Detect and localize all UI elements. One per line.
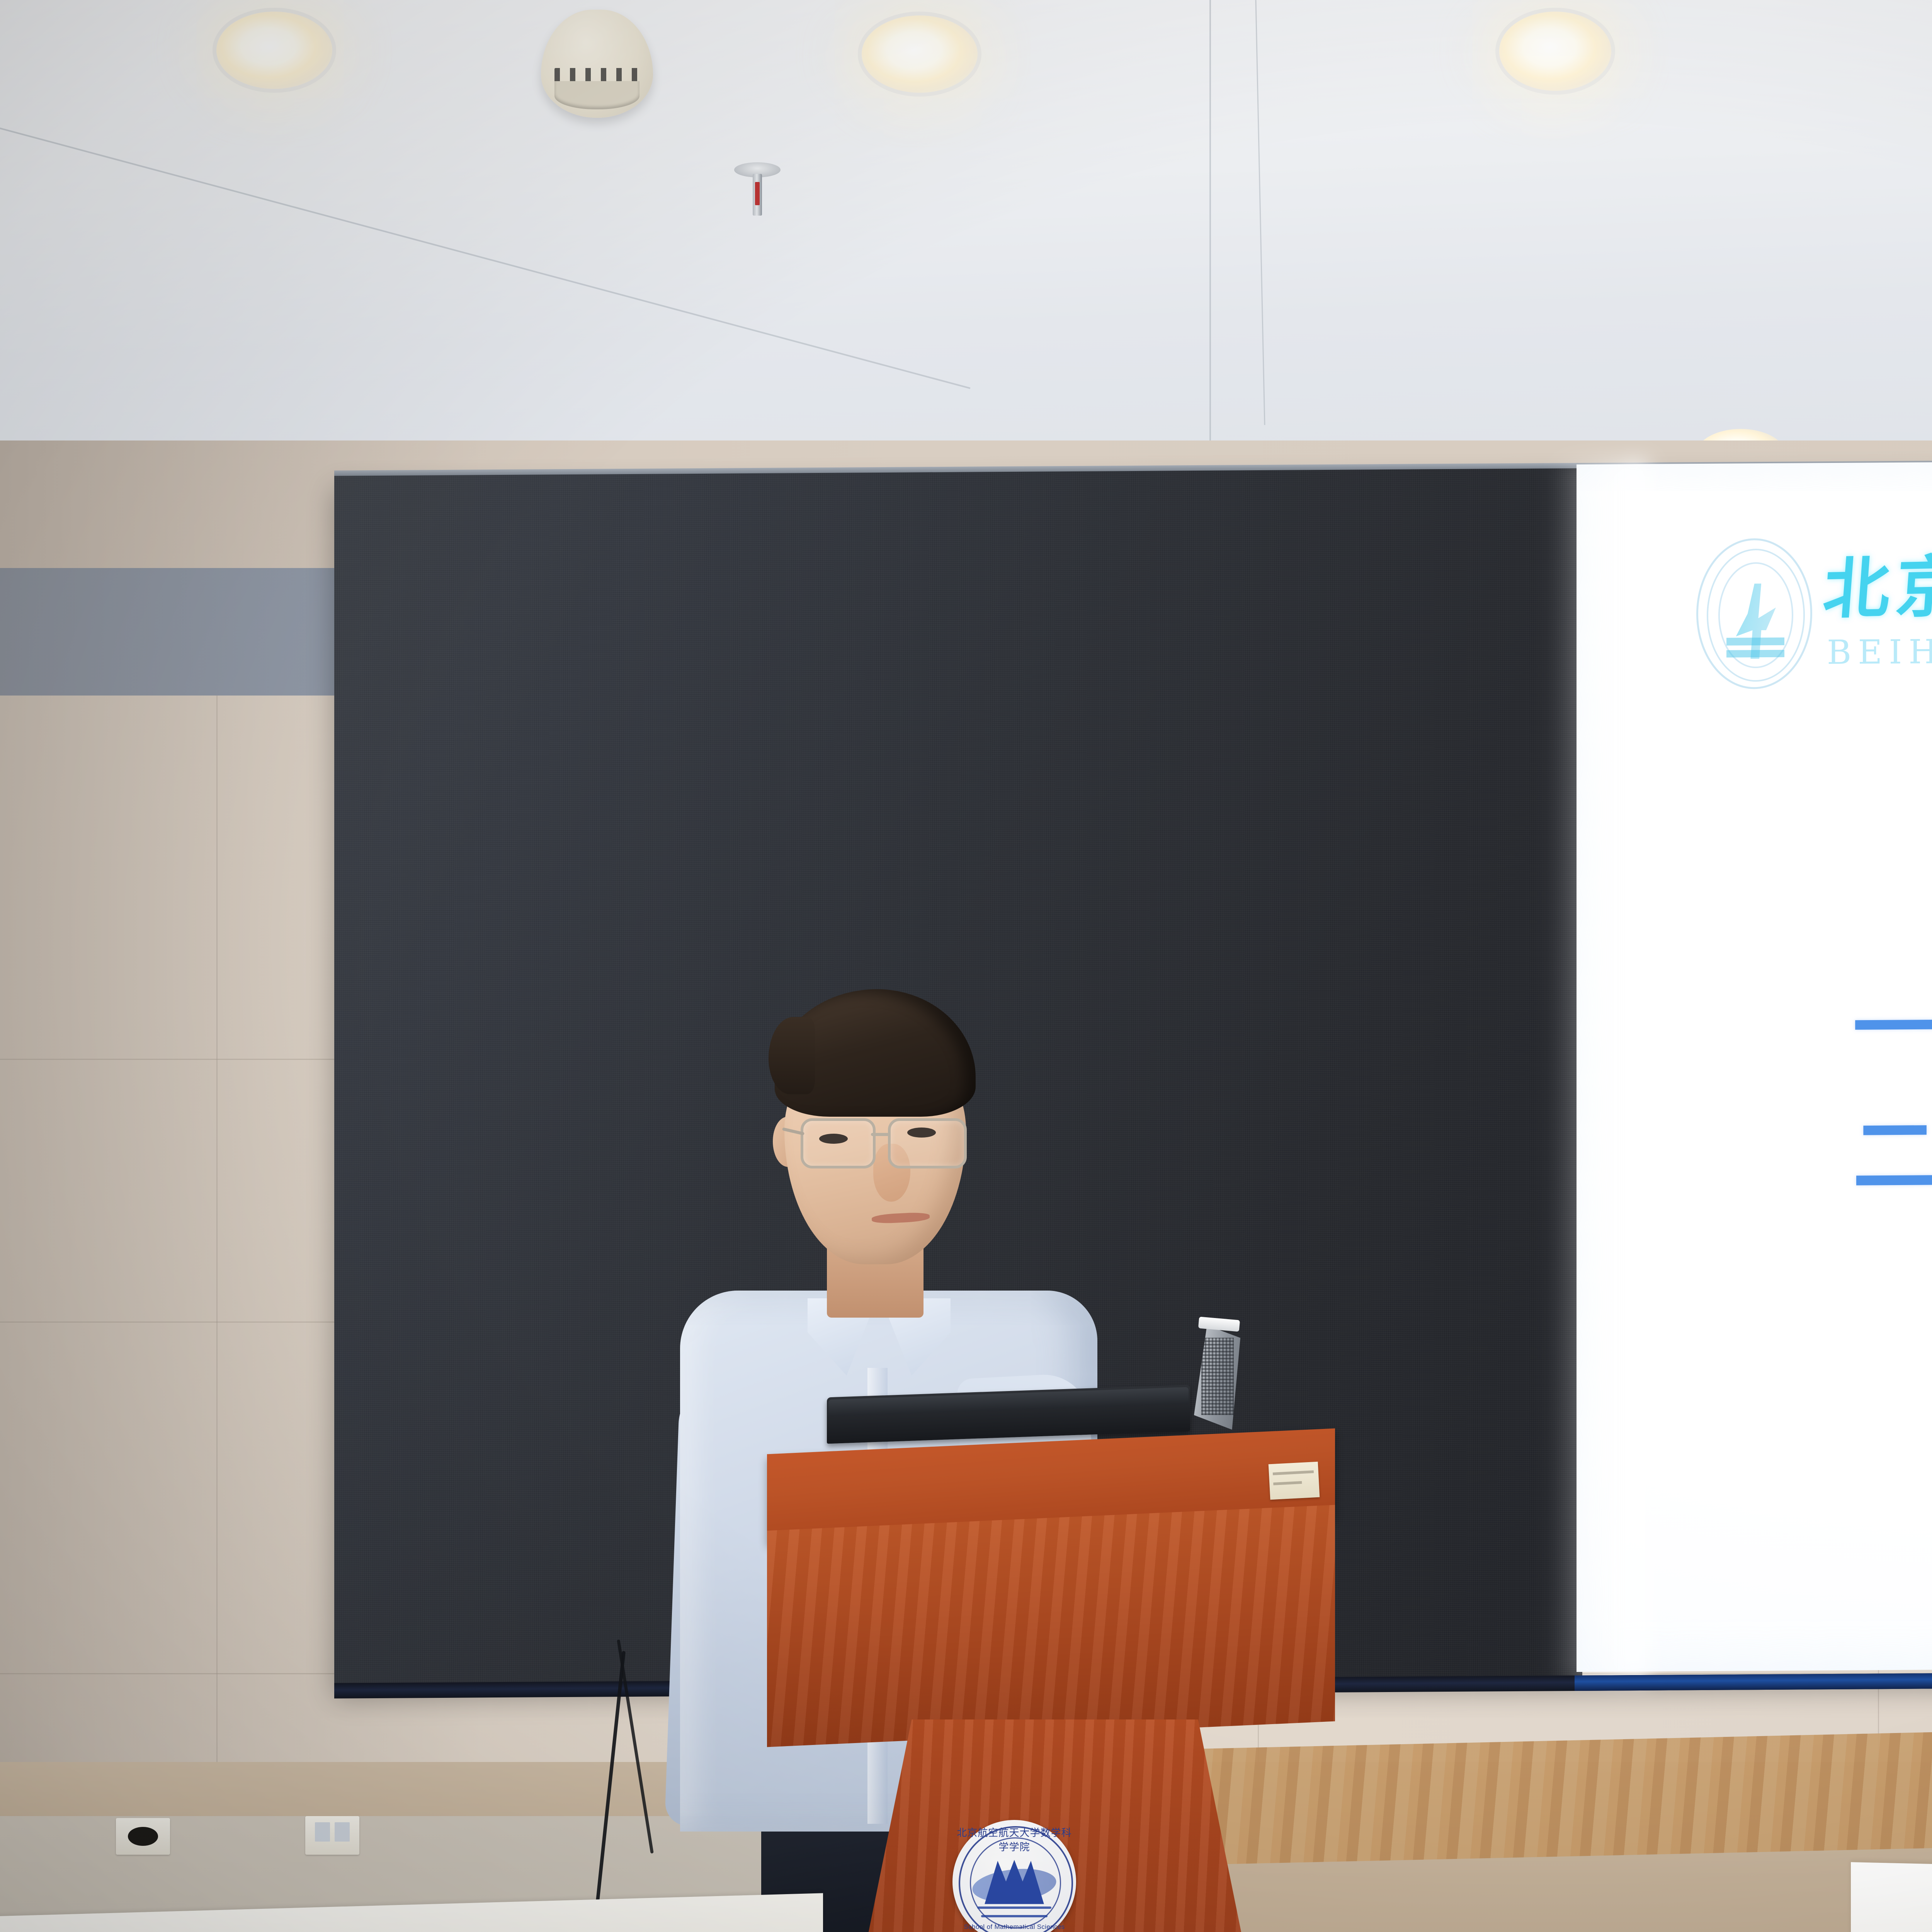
photo-scene: 北京航空航天大学 BEIHANG UNIVERSITY 目 录 一、上半年工作汇…: [0, 0, 1932, 1932]
ceiling: [0, 0, 1932, 458]
smoke-detector-vents: [554, 68, 639, 85]
lectern: 北京航空航天大学数学科学学院 School of Mathematical Sc…: [767, 1426, 1335, 1932]
ceiling-seam: [1209, 0, 1211, 458]
conference-table-right: [1851, 1862, 1932, 1932]
smoke-detector-icon: [541, 10, 653, 118]
recessed-downlight: [1499, 12, 1611, 91]
data-outlet[interactable]: [305, 1816, 359, 1855]
ceiling-seam: [1255, 0, 1265, 425]
outlet-slot: [335, 1822, 350, 1842]
asset-tag-sticker: [1269, 1462, 1320, 1500]
glasses-bridge: [871, 1133, 890, 1136]
speaker-hair: [775, 989, 976, 1117]
ceiling-seam: [0, 128, 970, 389]
slide-content: 北京航空航天大学 BEIHANG UNIVERSITY 目 录 一、上半年工作汇…: [1605, 459, 1932, 1674]
eyeglasses-icon: [797, 1113, 971, 1171]
glasses-lens-left: [801, 1118, 876, 1168]
sprinkler-bulb: [755, 182, 760, 205]
table-of-contents: 一、上半年工作汇报 二、人才人事政策介绍: [1853, 958, 1932, 1221]
sprinkler-head-icon: [734, 162, 781, 220]
lectern-front-panel: [767, 1505, 1335, 1747]
department-emblem: 北京航空航天大学数学科学学院 School of Mathematical Sc…: [952, 1820, 1076, 1932]
university-logo: 北京航空航天大学 BEIHANG UNIVERSITY: [1696, 531, 1932, 707]
recessed-downlight: [216, 12, 332, 89]
university-name-cn: 北京航空航天大学: [1821, 544, 1932, 622]
outlet-slot: [315, 1822, 330, 1842]
emblem-wave: [977, 1906, 1051, 1909]
university-name-en: BEIHANG UNIVERSITY: [1827, 633, 1932, 669]
beihang-seal-icon: [1696, 538, 1812, 689]
seal-bar: [1726, 638, 1784, 645]
recessed-downlight: [862, 15, 978, 93]
glasses-lens-right: [888, 1118, 967, 1168]
toc-item-2: 二、人才人事政策介绍: [1853, 1086, 1932, 1221]
outlet-hole: [128, 1827, 158, 1846]
seal-bar: [1726, 650, 1784, 657]
emblem-name-en: School of Mathematical Sciences Beihang …: [952, 1923, 1076, 1932]
emblem-wave: [981, 1915, 1048, 1917]
power-outlet[interactable]: [116, 1818, 170, 1855]
emblem-name-cn: 北京航空航天大学数学科学学院: [952, 1825, 1076, 1854]
toc-item-1: 一、上半年工作汇报: [1853, 958, 1932, 1093]
